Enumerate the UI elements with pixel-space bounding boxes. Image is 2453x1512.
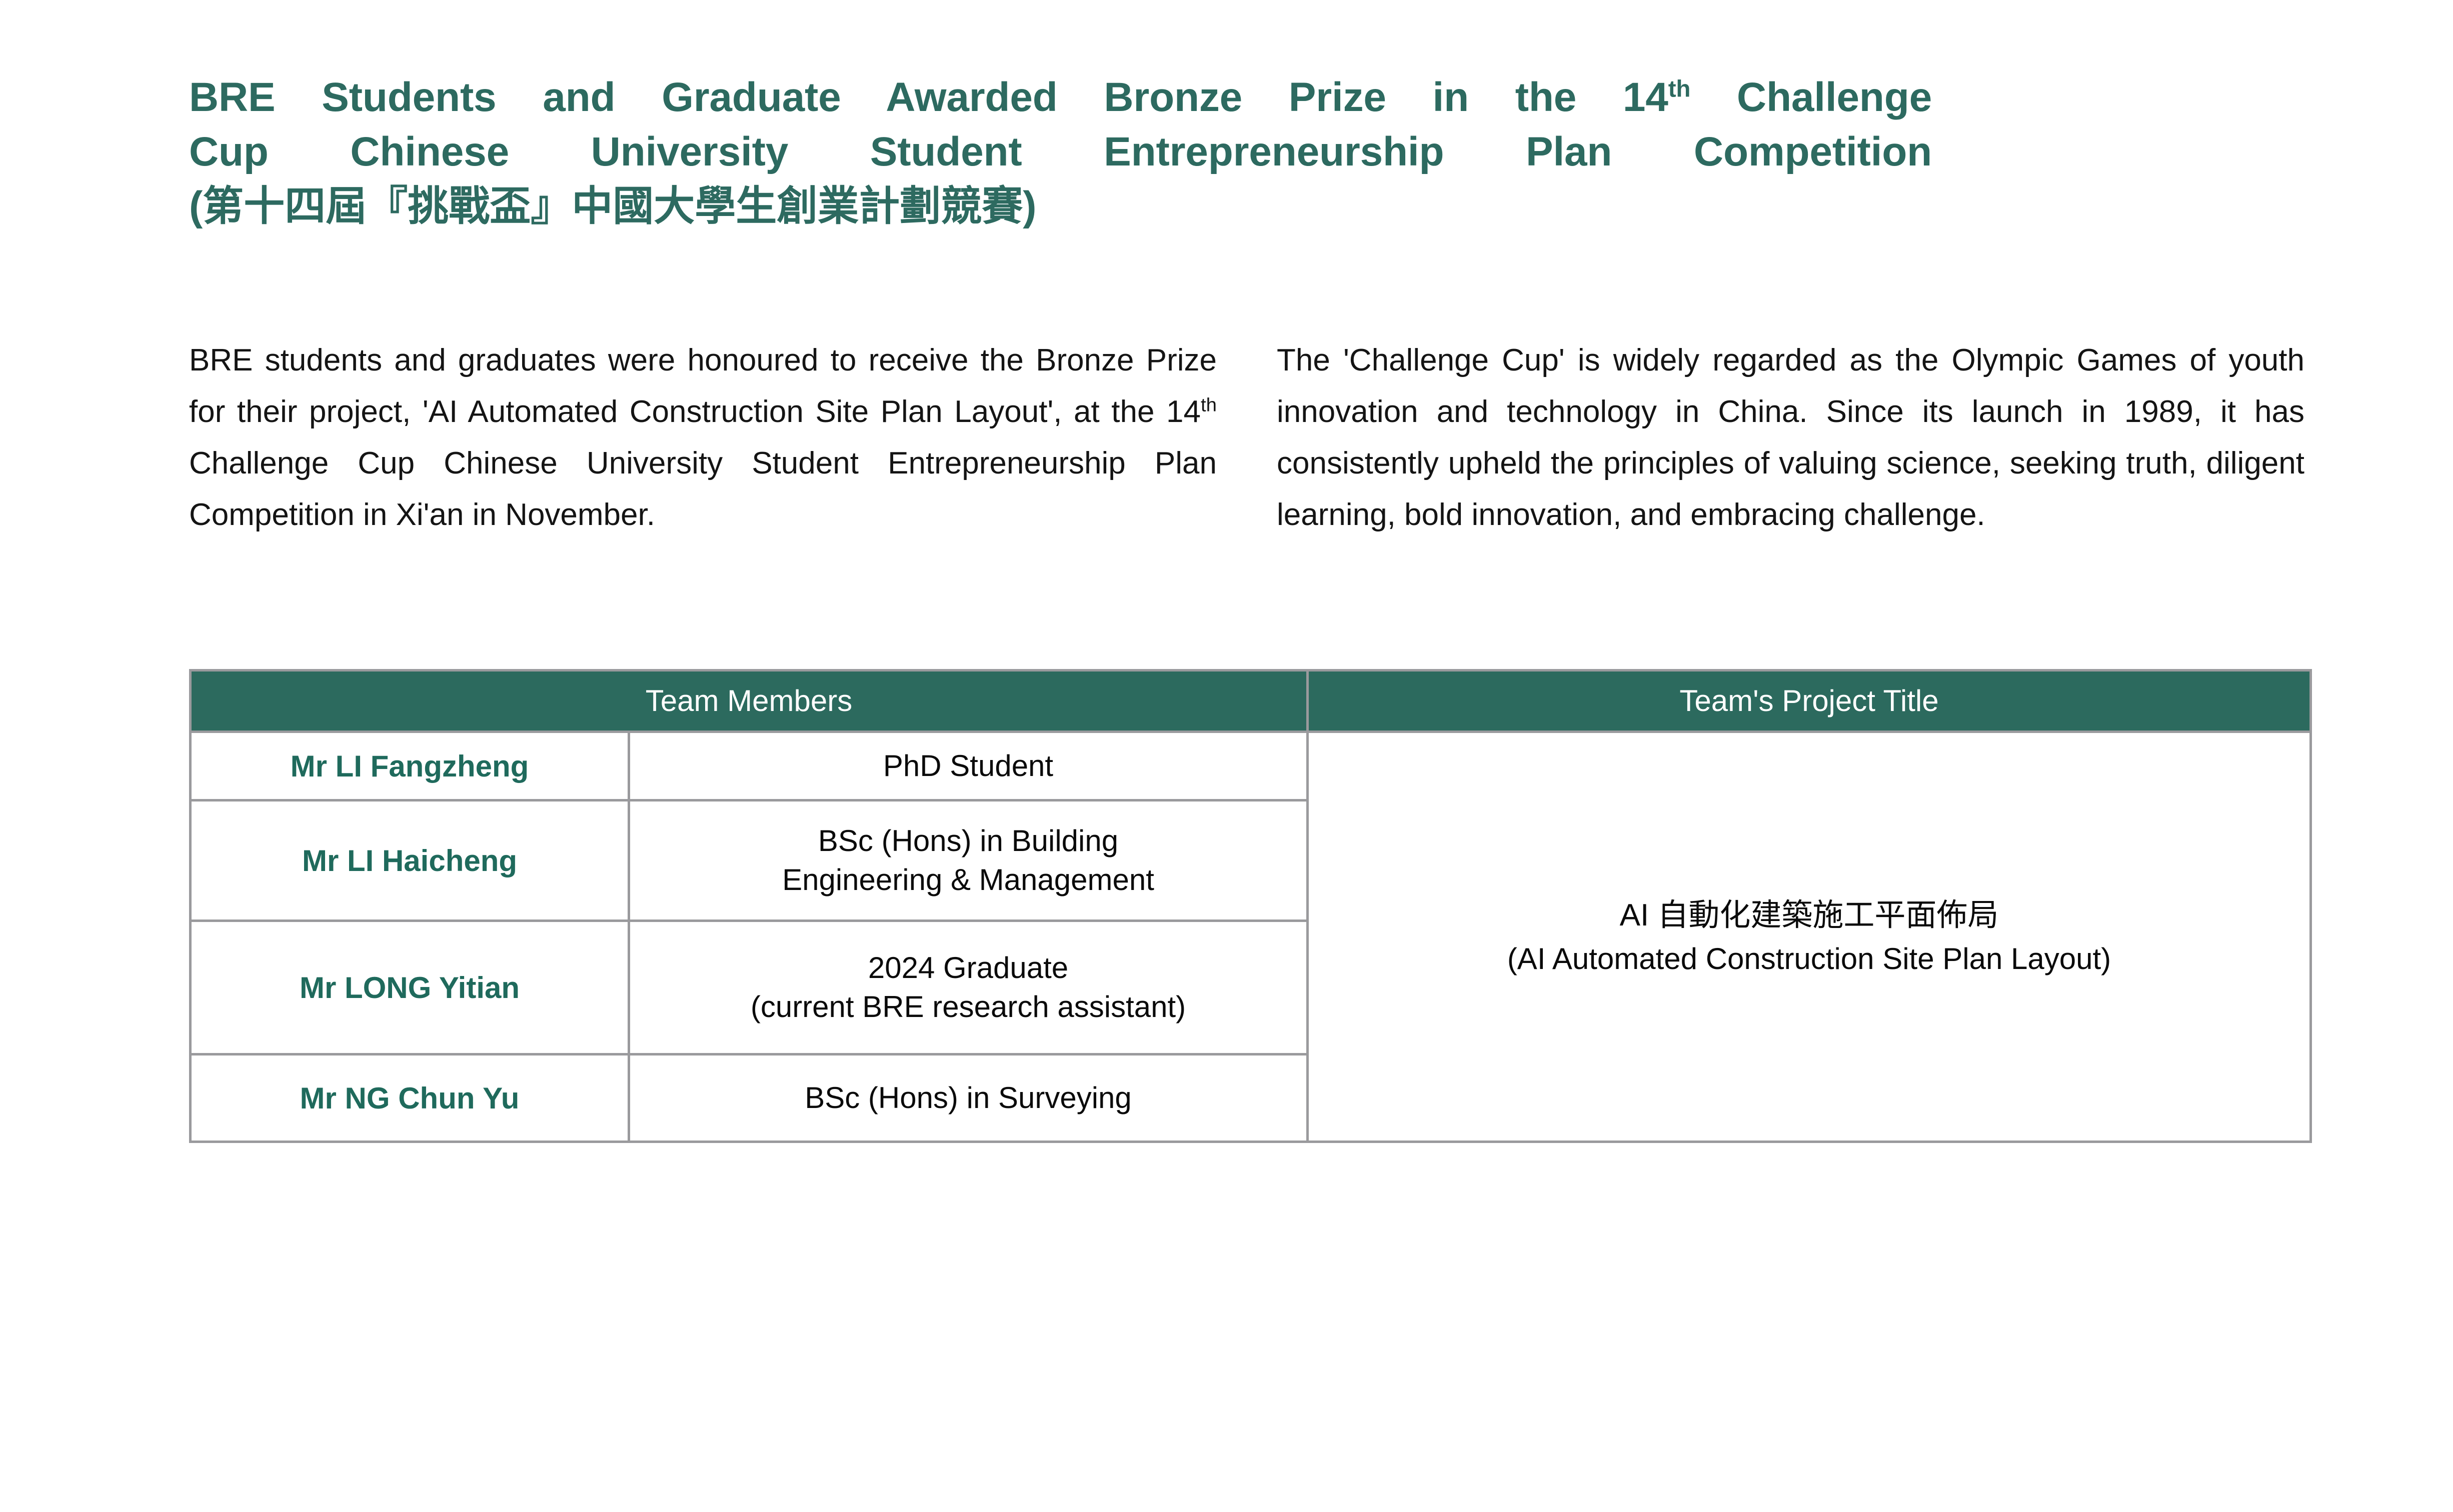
title-ordinal-superscript: th [1668, 76, 1690, 102]
member-role-line-1: PhD Student [630, 746, 1306, 785]
title-line-1-pre: BRE Students and Graduate Awarded Bronze… [189, 74, 1668, 120]
title-line-1: BRE Students and Graduate Awarded Bronze… [189, 70, 1932, 124]
member-role-line-1: BSc (Hons) in Building [630, 821, 1306, 860]
member-name: Mr LONG Yitian [191, 921, 629, 1054]
member-role-line-1: 2024 Graduate [630, 948, 1306, 987]
table-head: Team Members Team's Project Title [191, 670, 2311, 732]
table-header-row: Team Members Team's Project Title [191, 670, 2311, 732]
member-role: BSc (Hons) in Surveying [629, 1054, 1308, 1142]
title-line-1-post: Challenge [1690, 74, 1932, 120]
page-title: BRE Students and Graduate Awarded Bronze… [189, 70, 1969, 233]
left-paragraph: BRE students and graduates were honoured… [189, 335, 1217, 541]
member-name: Mr LI Haicheng [191, 800, 629, 921]
left-paragraph-ordinal-superscript: th [1201, 394, 1217, 415]
table-row: Mr LI Fangzheng PhD Student AI 自動化建築施工平面… [191, 732, 2311, 800]
member-role-line-2: (current BRE research assistant) [630, 987, 1306, 1026]
column-header-team-members: Team Members [191, 670, 1308, 732]
document-page: BRE Students and Graduate Awarded Bronze… [0, 0, 2453, 1512]
right-paragraph: The 'Challenge Cup' is widely regarded a… [1277, 335, 2304, 541]
member-role: 2024 Graduate (current BRE research assi… [629, 921, 1308, 1054]
team-table-wrapper: Team Members Team's Project Title Mr LI … [189, 669, 2309, 1143]
member-name: Mr NG Chun Yu [191, 1054, 629, 1142]
left-column: BRE students and graduates were honoured… [189, 335, 1217, 541]
member-role: PhD Student [629, 732, 1308, 800]
table-body: Mr LI Fangzheng PhD Student AI 自動化建築施工平面… [191, 732, 2311, 1142]
title-line-chinese: (第十四屆『挑戰盃』中國大學生創業計劃競賽) [189, 179, 1969, 233]
member-role: BSc (Hons) in Building Engineering & Man… [629, 800, 1308, 921]
left-paragraph-post: Challenge Cup Chinese University Student… [189, 446, 1217, 532]
title-line-2: Cup Chinese University Student Entrepren… [189, 124, 1932, 179]
right-column: The 'Challenge Cup' is widely regarded a… [1277, 335, 2304, 541]
member-role-line-1: BSc (Hons) in Surveying [630, 1078, 1306, 1117]
project-title-cell: AI 自動化建築施工平面佈局 (AI Automated Constructio… [1308, 732, 2311, 1142]
left-paragraph-pre: BRE students and graduates were honoured… [189, 343, 1217, 429]
project-title-english: (AI Automated Construction Site Plan Lay… [1309, 937, 2309, 980]
member-role-line-2: Engineering & Management [630, 860, 1306, 899]
team-members-table: Team Members Team's Project Title Mr LI … [189, 669, 2312, 1143]
member-name: Mr LI Fangzheng [191, 732, 629, 800]
body-columns: BRE students and graduates were honoured… [189, 335, 2304, 541]
project-title-chinese: AI 自動化建築施工平面佈局 [1309, 893, 2309, 937]
column-header-project-title: Team's Project Title [1308, 670, 2311, 732]
